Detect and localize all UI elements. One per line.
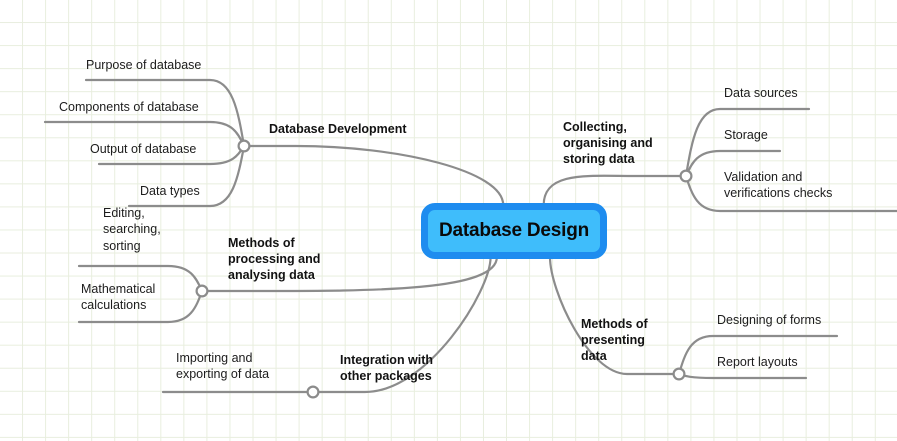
connector-line xyxy=(679,374,806,378)
central-node-database-design[interactable]: Database Design xyxy=(421,203,607,259)
branch-label-collecting-organising-storing[interactable]: Collecting, organising and storing data xyxy=(563,119,653,167)
branch-label-database-development[interactable]: Database Development xyxy=(269,121,407,137)
mindmap-canvas: Database Design Purpose of databaseCompo… xyxy=(0,0,897,441)
junction-node-database-development[interactable] xyxy=(239,141,250,152)
junction-node-collecting-organising-storing[interactable] xyxy=(681,171,692,182)
leaf-label-purpose-of-database[interactable]: Purpose of database xyxy=(86,57,201,73)
junction-node-integration-with-other-packages[interactable] xyxy=(308,387,319,398)
leaf-label-validation-and-verifications-checks[interactable]: Validation and verifications checks xyxy=(724,169,832,202)
leaf-label-report-layouts[interactable]: Report layouts xyxy=(717,354,798,370)
leaf-label-components-of-database[interactable]: Components of database xyxy=(59,99,199,115)
connector-line xyxy=(244,146,503,205)
connector-line xyxy=(544,176,686,205)
junction-node-methods-of-processing[interactable] xyxy=(197,286,208,297)
leaf-label-mathematical-calculations[interactable]: Mathematical calculations xyxy=(81,281,155,314)
leaf-label-data-sources[interactable]: Data sources xyxy=(724,85,798,101)
central-node-label: Database Design xyxy=(439,220,589,242)
leaf-label-output-of-database[interactable]: Output of database xyxy=(90,141,196,157)
leaf-label-editing-searching-sorting[interactable]: Editing, searching, sorting xyxy=(103,205,161,254)
leaf-label-designing-of-forms[interactable]: Designing of forms xyxy=(717,312,821,328)
branch-label-methods-of-presenting-data[interactable]: Methods of presenting data xyxy=(581,316,648,364)
leaf-label-data-types[interactable]: Data types xyxy=(140,183,200,199)
branch-label-methods-of-processing[interactable]: Methods of processing and analysing data xyxy=(228,235,320,283)
leaf-label-storage[interactable]: Storage xyxy=(724,127,768,143)
junction-node-methods-of-presenting-data[interactable] xyxy=(674,369,685,380)
branch-label-integration-with-other-packages[interactable]: Integration with other packages xyxy=(340,352,433,384)
leaf-label-importing-and-exporting-of-data[interactable]: Importing and exporting of data xyxy=(176,350,269,383)
